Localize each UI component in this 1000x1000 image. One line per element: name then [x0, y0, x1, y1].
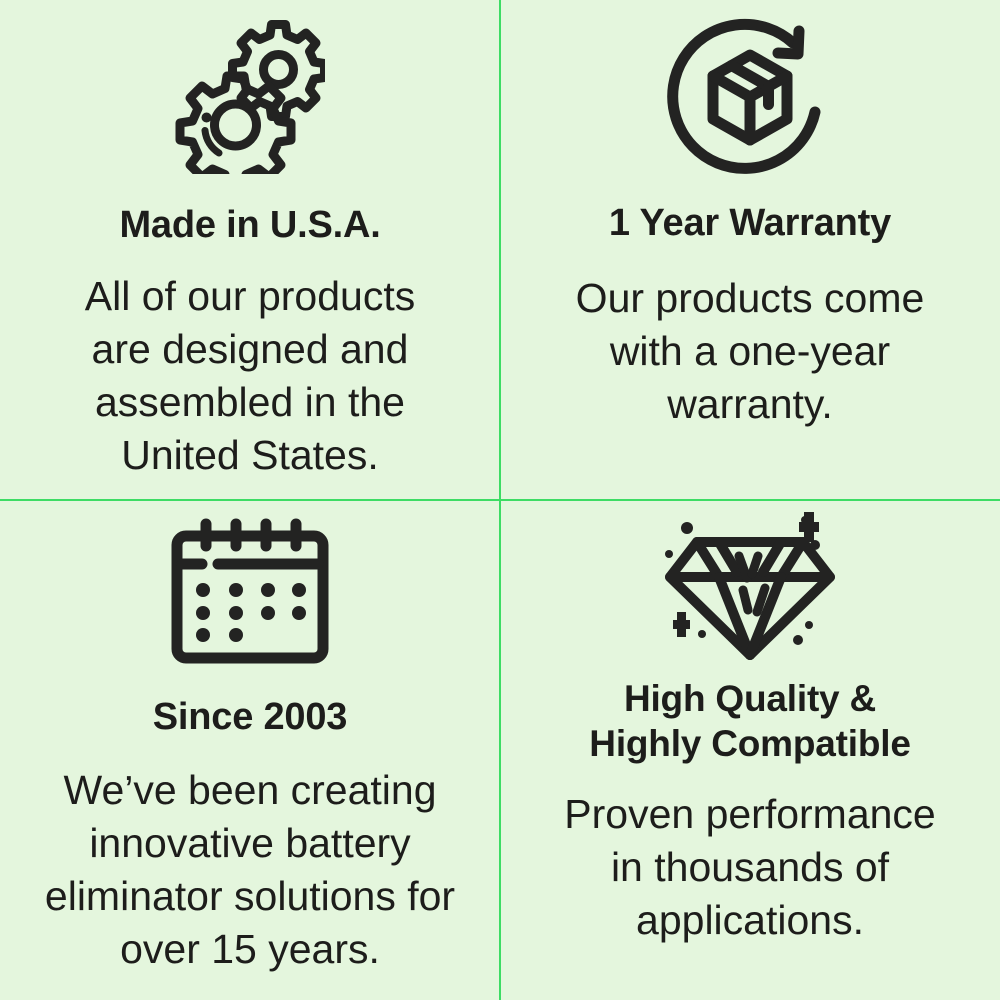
feature-card-high-quality: High Quality & Highly Compatible Proven … [500, 500, 1000, 1000]
feature-description: Proven performance in thousands of appli… [564, 788, 935, 947]
diamond-icon [657, 512, 843, 662]
feature-title: Since 2003 [153, 694, 347, 740]
features-grid: Made in U.S.A. All of our products are d… [0, 0, 1000, 1000]
feature-description: Our products come with a one-year warran… [576, 272, 925, 431]
feature-card-warranty: 1 Year Warranty Our products come with a… [500, 0, 1000, 500]
package-return-icon [665, 16, 835, 184]
feature-description: We’ve been creating innovative battery e… [45, 764, 455, 976]
feature-title: High Quality & Highly Compatible [589, 676, 910, 766]
feature-title: 1 Year Warranty [609, 200, 891, 246]
feature-card-made-in-usa: Made in U.S.A. All of our products are d… [0, 0, 500, 500]
feature-card-since-2003: Since 2003 We’ve been creating innovativ… [0, 500, 500, 1000]
feature-title: Made in U.S.A. [119, 202, 380, 248]
calendar-icon [168, 516, 332, 666]
gears-icon [175, 14, 325, 174]
feature-description: All of our products are designed and ass… [85, 270, 415, 482]
